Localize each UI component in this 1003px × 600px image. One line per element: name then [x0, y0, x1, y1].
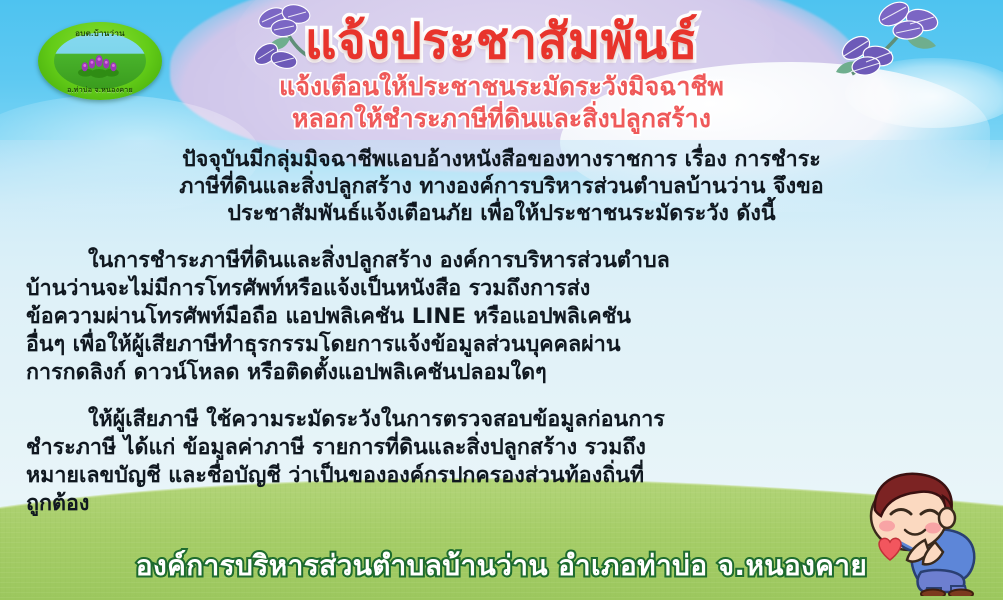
- body-content: ปัจจุบันมีกลุ่มมิจฉาชีพแอบอ้างหนังสือของ…: [26, 146, 977, 518]
- bowing-boy-with-heart-icon: [851, 468, 1001, 596]
- title-block: แจ้งประชาสัมพันธ์ แจ้งเตือนให้ประชาชนระม…: [0, 16, 1003, 135]
- subtitle-line-2: หลอกให้ชำระภาษีที่ดินและสิ่งปลูกสร้าง: [0, 103, 1003, 135]
- paragraph-3-line-3: หมายเลขบัญชี และชื่อบัญชี ว่าเป็นขององค์…: [26, 462, 977, 490]
- paragraph-2-line-5: การกดลิงก์ ดาวน์โหลด หรือติดตั้งแอปพลิเค…: [26, 359, 977, 387]
- paragraph-1-line-3: ประชาสัมพันธ์แจ้งเตือนภัย เพื่อให้ประชาช…: [26, 200, 977, 227]
- subtitle-line-1: แจ้งเตือนให้ประชาชนระมัดระวังมิจฉาชีพ: [0, 71, 1003, 103]
- paragraph-3: ให้ผู้เสียภาษี ใช้ความระมัดระวังในการตรว…: [26, 406, 977, 518]
- announcement-poster: อบต.บ้านว่าน อ.ท่าบ่อ จ.หนองคาย: [0, 0, 1003, 600]
- paragraph-2-line-3: ข้อความผ่านโทรศัพท์มือถือ แอปพลิเคชัน LI…: [26, 303, 977, 331]
- paragraph-2-line-4: อื่นๆ เพื่อให้ผู้เสียภาษีทำธุรกรรมโดยการ…: [26, 331, 977, 359]
- footer-organization-text: องค์การบริหารส่วนตำบลบ้านว่าน อำเภอท่าบ่…: [136, 544, 867, 588]
- paragraph-3-line-1: ให้ผู้เสียภาษี ใช้ความระมัดระวังในการตรว…: [26, 406, 977, 434]
- paragraph-2: ในการชำระภาษีที่ดินและสิ่งปลูกสร้าง องค์…: [26, 247, 977, 387]
- paragraph-1-line-1: ปัจจุบันมีกลุ่มมิจฉาชีพแอบอ้างหนังสือของ…: [26, 146, 977, 173]
- paragraph-2-line-1: ในการชำระภาษีที่ดินและสิ่งปลูกสร้าง องค์…: [26, 247, 977, 275]
- page-title: แจ้งประชาสัมพันธ์: [0, 16, 1003, 67]
- paragraph-1: ปัจจุบันมีกลุ่มมิจฉาชีพแอบอ้างหนังสือของ…: [26, 146, 977, 227]
- paragraph-3-line-4: ถูกต้อง: [26, 490, 977, 518]
- paragraph-3-line-2: ชำระภาษี ได้แก่ ข้อมูลค่าภาษี รายการที่ด…: [26, 434, 977, 462]
- paragraph-1-line-2: ภาษีที่ดินและสิ่งปลูกสร้าง ทางองค์การบริ…: [26, 173, 977, 200]
- paragraph-2-line-2: บ้านว่านจะไม่มีการโทรศัพท์หรือแจ้งเป็นหน…: [26, 275, 977, 303]
